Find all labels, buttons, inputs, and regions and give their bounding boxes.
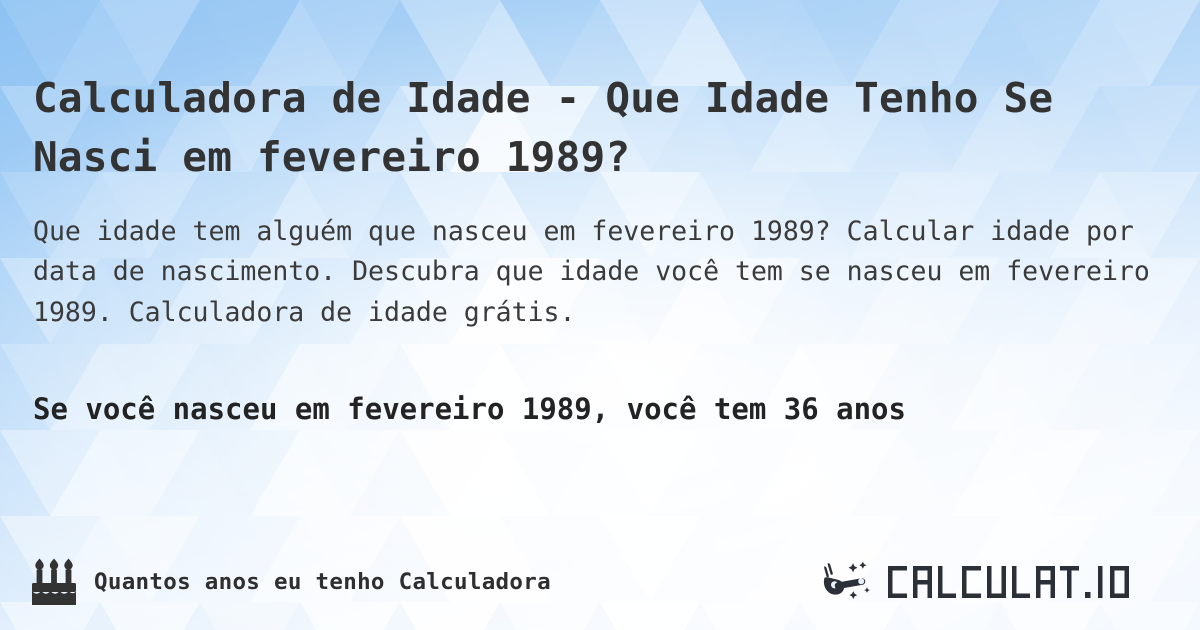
age-answer-text: Se você nasceu em fevereiro 1989, você t…	[33, 385, 1153, 435]
page-description: Que idade tem alguém que nasceu em fever…	[33, 212, 1168, 334]
card-footer: Quantos anos eu tenho Calculadora	[0, 534, 1200, 630]
footer-brand-label: Quantos anos eu tenho Calculadora	[94, 569, 551, 595]
site-logo[interactable]	[820, 557, 1174, 607]
birthday-cake-icon	[28, 557, 80, 607]
footer-brand: Quantos anos eu tenho Calculadora	[28, 557, 551, 607]
page-title: Calculadora de Idade - Que Idade Tenho S…	[33, 69, 1063, 185]
social-share-card: Calculadora de Idade - Que Idade Tenho S…	[0, 0, 1200, 630]
hand-magic-wand-icon	[820, 557, 882, 607]
logo-wordmark	[886, 559, 1174, 605]
